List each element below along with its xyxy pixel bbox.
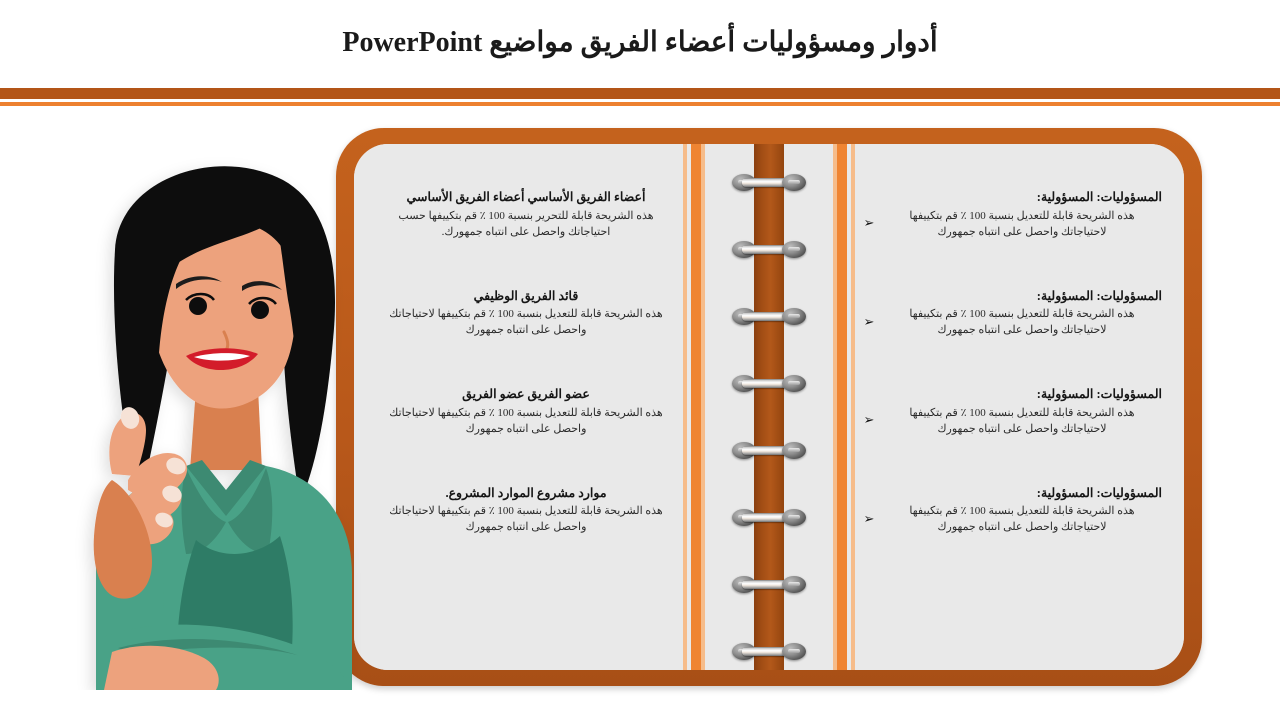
spine-stripe-light (851, 144, 855, 670)
binder-ring-icon (732, 174, 806, 191)
ring-cap-right (782, 442, 806, 459)
ring-cap-right (782, 643, 806, 660)
title-container: أدوار ومسؤوليات أعضاء الفريق مواضيع Powe… (0, 26, 1280, 60)
responsibility-entry: ➢ المسؤوليات: المسؤولية: هذه الشريحة قاب… (862, 486, 1162, 537)
spine-stripe-light (683, 144, 687, 670)
slide-canvas: أدوار ومسؤوليات أعضاء الفريق مواضيع Powe… (0, 0, 1280, 720)
role-entry: قائد الفريق الوظيفي هذه الشريحة قابلة لل… (376, 289, 676, 340)
binder-ring-icon (732, 308, 806, 325)
bullet-arrow-icon: ➢ (862, 315, 876, 329)
responsibility-heading: المسؤوليات: المسؤولية: (862, 289, 1162, 305)
responsibility-heading: المسؤوليات: المسؤولية: (862, 387, 1162, 403)
bullet-arrow-icon: ➢ (862, 413, 876, 427)
responsibility-heading: المسؤوليات: المسؤولية: (862, 190, 1162, 206)
responsibility-body: هذه الشريحة قابلة للتعديل بنسبة 100 ٪ قم… (862, 504, 1162, 536)
binder-spine (681, 144, 857, 670)
binder-ring-icon (732, 241, 806, 258)
binder-pages: ➢ المسؤوليات: المسؤولية: هذه الشريحة قاب… (354, 144, 1184, 670)
page-title: أدوار ومسؤوليات أعضاء الفريق مواضيع Powe… (0, 26, 1280, 60)
role-heading: قائد الفريق الوظيفي (376, 289, 676, 305)
responsibility-body: هذه الشريحة قابلة للتعديل بنسبة 100 ٪ قم… (862, 406, 1162, 438)
binder-ring-icon (732, 576, 806, 593)
bullet-arrow-icon: ➢ (862, 512, 876, 526)
spine-stripe-light (833, 144, 837, 670)
role-entry: عضو الفريق عضو الفريق هذه الشريحة قابلة … (376, 387, 676, 438)
binder-ring-icon (732, 375, 806, 392)
divider-band-thin (0, 102, 1280, 106)
divider-band-thick (0, 88, 1280, 99)
responsibility-entry: ➢ المسؤوليات: المسؤولية: هذه الشريحة قاب… (862, 289, 1162, 340)
ring-cap-right (782, 509, 806, 526)
spine-stripe-light (701, 144, 705, 670)
role-body: هذه الشريحة قابلة للتحرير بنسبة 100 ٪ قم… (376, 209, 676, 241)
ring-cap-right (782, 576, 806, 593)
role-body: هذه الشريحة قابلة للتعديل بنسبة 100 ٪ قم… (376, 504, 676, 536)
binder-frame: ➢ المسؤوليات: المسؤولية: هذه الشريحة قاب… (336, 128, 1202, 686)
woman-thinking-illustration (0, 150, 392, 690)
role-body: هذه الشريحة قابلة للتعديل بنسبة 100 ٪ قم… (376, 406, 676, 438)
responsibilities-column: ➢ المسؤوليات: المسؤولية: هذه الشريحة قاب… (862, 190, 1162, 584)
responsibility-entry: ➢ المسؤوليات: المسؤولية: هذه الشريحة قاب… (862, 387, 1162, 438)
binder-ring-icon (732, 643, 806, 660)
roles-column: أعضاء الفريق الأساسي أعضاء الفريق الأساس… (376, 190, 676, 584)
role-entry: موارد مشروع الموارد المشروع. هذه الشريحة… (376, 486, 676, 537)
ring-cap-right (782, 241, 806, 258)
ring-cap-right (782, 308, 806, 325)
responsibility-body: هذه الشريحة قابلة للتعديل بنسبة 100 ٪ قم… (862, 209, 1162, 241)
role-heading: موارد مشروع الموارد المشروع. (376, 486, 676, 502)
responsibility-heading: المسؤوليات: المسؤولية: (862, 486, 1162, 502)
ring-cap-right (782, 174, 806, 191)
role-entry: أعضاء الفريق الأساسي أعضاء الفريق الأساس… (376, 190, 676, 241)
spine-stripe-orange (836, 144, 847, 670)
role-heading: أعضاء الفريق الأساسي أعضاء الفريق الأساس… (376, 190, 676, 206)
role-heading: عضو الفريق عضو الفريق (376, 387, 676, 403)
ring-cap-right (782, 375, 806, 392)
binder-ring-icon (732, 442, 806, 459)
responsibility-body: هذه الشريحة قابلة للتعديل بنسبة 100 ٪ قم… (862, 307, 1162, 339)
role-body: هذه الشريحة قابلة للتعديل بنسبة 100 ٪ قم… (376, 307, 676, 339)
bullet-arrow-icon: ➢ (862, 216, 876, 230)
responsibility-entry: ➢ المسؤوليات: المسؤولية: هذه الشريحة قاب… (862, 190, 1162, 241)
binder-ring-icon (732, 509, 806, 526)
